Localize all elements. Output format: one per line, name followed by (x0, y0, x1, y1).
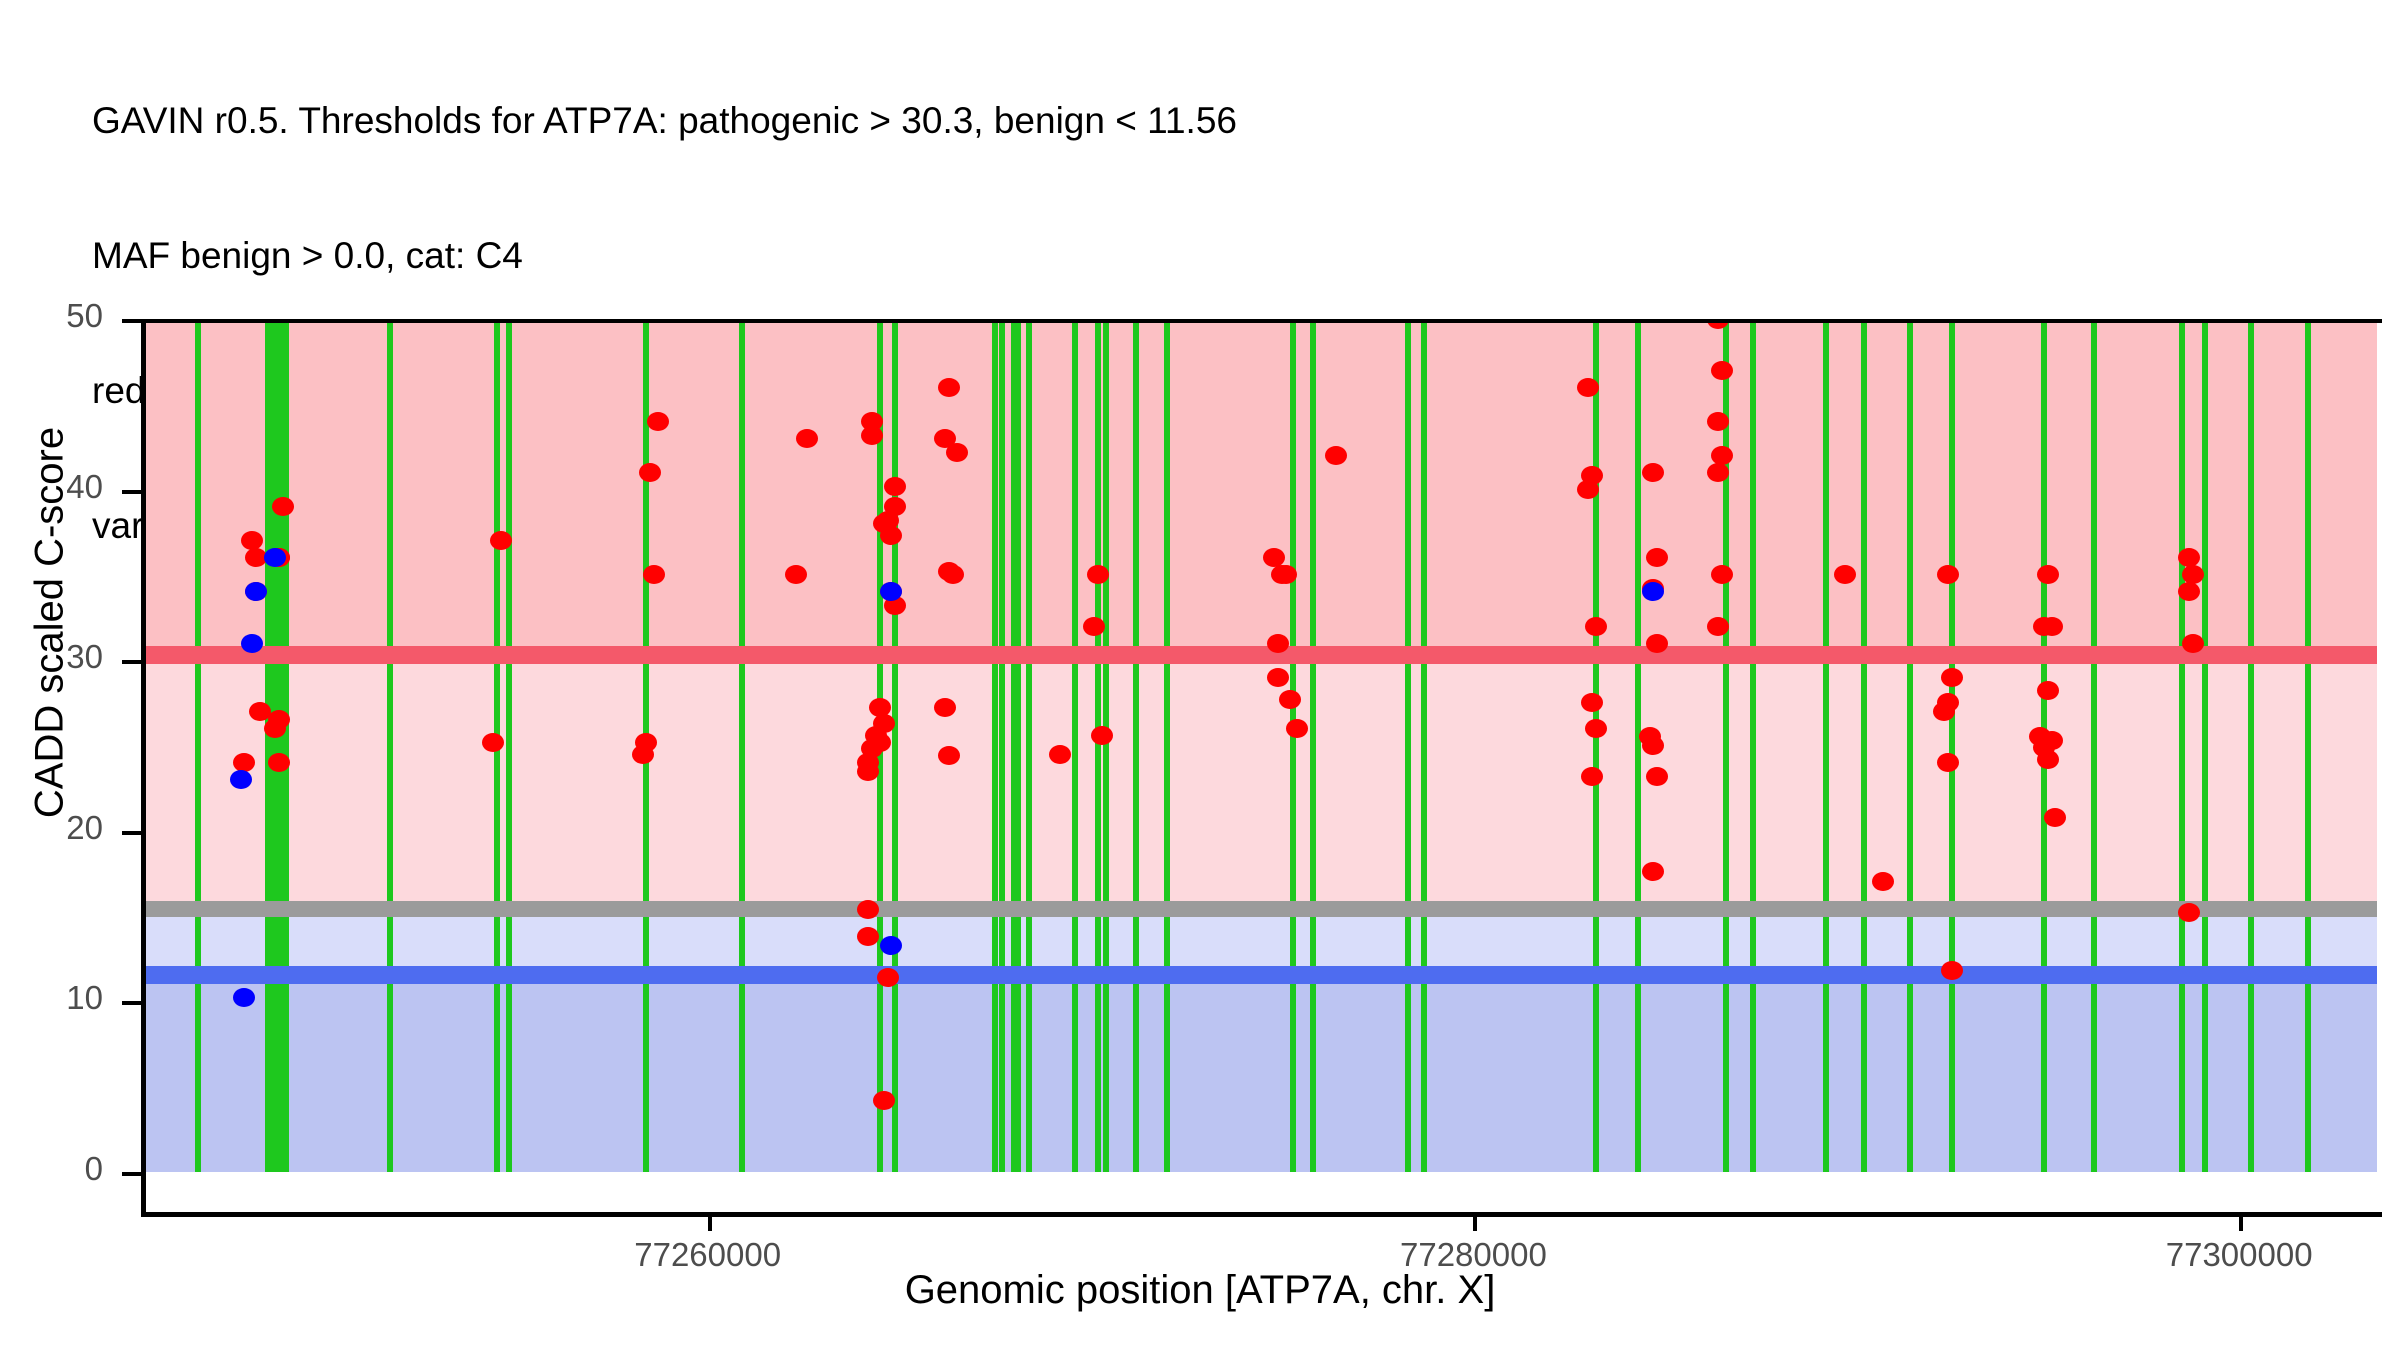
refseq-exon-line (1310, 319, 1316, 1172)
y-axis-tick (122, 490, 141, 494)
pathogenic-variant-point (1267, 634, 1289, 653)
refseq-exon-line (992, 319, 998, 1172)
pathogenic-variant-point (873, 1091, 895, 1110)
refseq-exon-line (1095, 319, 1101, 1172)
refseq-exon-line (2248, 319, 2254, 1172)
y-axis: 01020304050 (141, 319, 142, 1172)
pathogenic-variant-point (2041, 617, 2063, 636)
pathogenic-variant-point (632, 745, 654, 764)
pathogenic-variant-point (946, 443, 968, 462)
pathogenic-variant-point (1646, 634, 1668, 653)
pathogenic-variant-point (647, 412, 669, 431)
refseq-exon-block-wide (265, 319, 290, 1172)
refseq-exon-line (1907, 319, 1913, 1172)
pathogenic-variant-point (942, 565, 964, 584)
y-axis-tick-label: 0 (13, 1150, 103, 1188)
x-axis: 772600007728000077300000 (141, 1212, 2377, 1272)
plot-area (141, 319, 2377, 1172)
x-axis-tick (1473, 1212, 1477, 1231)
refseq-exon-line (892, 319, 898, 1172)
pathogenic-variant-point (1711, 361, 1733, 380)
refseq-exon-line (999, 319, 1005, 1172)
refseq-exon-line (1164, 319, 1170, 1172)
pathogenic-variant-point (272, 497, 294, 516)
y-axis-tick (122, 1001, 141, 1005)
y-axis-tick (122, 831, 141, 835)
pathogenic-variant-point (1585, 617, 1607, 636)
pathogenic-variant-point (1083, 617, 1105, 636)
refseq-exon-line (1635, 319, 1641, 1172)
refseq-exon-line (1593, 319, 1599, 1172)
pathogenic-variant-point (2041, 731, 2063, 750)
y-axis-title: CADD scaled C-score (28, 243, 73, 1003)
pathogenic-variant-point (2044, 808, 2066, 827)
refseq-exon-line (195, 319, 201, 1172)
refseq-exon-line (1015, 319, 1021, 1172)
pathogenic-variant-point (1279, 690, 1301, 709)
pathogenic-variant-point (1585, 719, 1607, 738)
pathogenic-variant-point (1707, 617, 1729, 636)
x-axis-tick (2239, 1212, 2243, 1231)
pathogenic-variant-point (1325, 446, 1347, 465)
gnomad-variant-point (230, 770, 252, 789)
pathogenic-variant-point (938, 746, 960, 765)
refseq-exon-line (2202, 319, 2208, 1172)
title-line-1: GAVIN r0.5. Thresholds for ATP7A: pathog… (92, 98, 2342, 143)
pathogenic-variant-point (268, 753, 290, 772)
benign-threshold-line (141, 966, 2377, 984)
refseq-exon-line (1072, 319, 1078, 1172)
pathogenic-variant-point (1577, 378, 1599, 397)
gnomad-variant-point (880, 936, 902, 955)
pathogenic-variant-point (2037, 750, 2059, 769)
pathogenic-variant-point (796, 429, 818, 448)
pathogenic-variant-point (884, 477, 906, 496)
figure-root: GAVIN r0.5. Thresholds for ATP7A: pathog… (0, 0, 2400, 1350)
pathogenic-variant-point (938, 378, 960, 397)
gnomad-variant-point (241, 634, 263, 653)
refseq-exon-line (1421, 319, 1427, 1172)
x-axis-tick (708, 1212, 712, 1231)
pathogenic-variant-point (482, 733, 504, 752)
pathogenic-variant-point (2182, 634, 2204, 653)
refseq-exon-line (1949, 319, 1955, 1172)
pathogenic-variant-point (264, 719, 286, 738)
pathogenic-variant-point (1646, 767, 1668, 786)
refseq-exon-line (1026, 319, 1032, 1172)
title-line-2: MAF benign > 0.0, cat: C4 (92, 233, 2342, 278)
y-axis-tick (122, 660, 141, 664)
pathogenic-variant-point (861, 426, 883, 445)
pathogenic-variant-point (877, 968, 899, 987)
refseq-exon-line (1103, 319, 1109, 1172)
pathogenic-variant-point (1049, 745, 1071, 764)
refseq-exon-line (387, 319, 393, 1172)
refseq-exon-line (1133, 319, 1139, 1172)
refseq-exon-line (1405, 319, 1411, 1172)
refseq-exon-line (1750, 319, 1756, 1172)
fallback-threshold-line (141, 901, 2377, 917)
y-axis-tick (122, 319, 141, 323)
pathogenic-variant-point (1581, 767, 1603, 786)
pathogenic-variant-point (1267, 668, 1289, 687)
y-axis-tick (122, 1172, 141, 1176)
pathogenic-variant-point (1941, 668, 1963, 687)
pathogenic-threshold-line (141, 646, 2377, 664)
refseq-exon-line (1861, 319, 1867, 1172)
pathogenic-variant-point (1091, 726, 1113, 745)
pathogenic-variant-point (857, 762, 879, 781)
refseq-exon-line (1823, 319, 1829, 1172)
refseq-exon-line (739, 319, 745, 1172)
refseq-exon-line (2179, 319, 2185, 1172)
refseq-exon-line (1290, 319, 1296, 1172)
refseq-exon-line (2091, 319, 2097, 1172)
refseq-exon-line (506, 319, 512, 1172)
refseq-exon-line (2305, 319, 2311, 1172)
x-axis-title: Genomic position [ATP7A, chr. X] (0, 1268, 2400, 1313)
